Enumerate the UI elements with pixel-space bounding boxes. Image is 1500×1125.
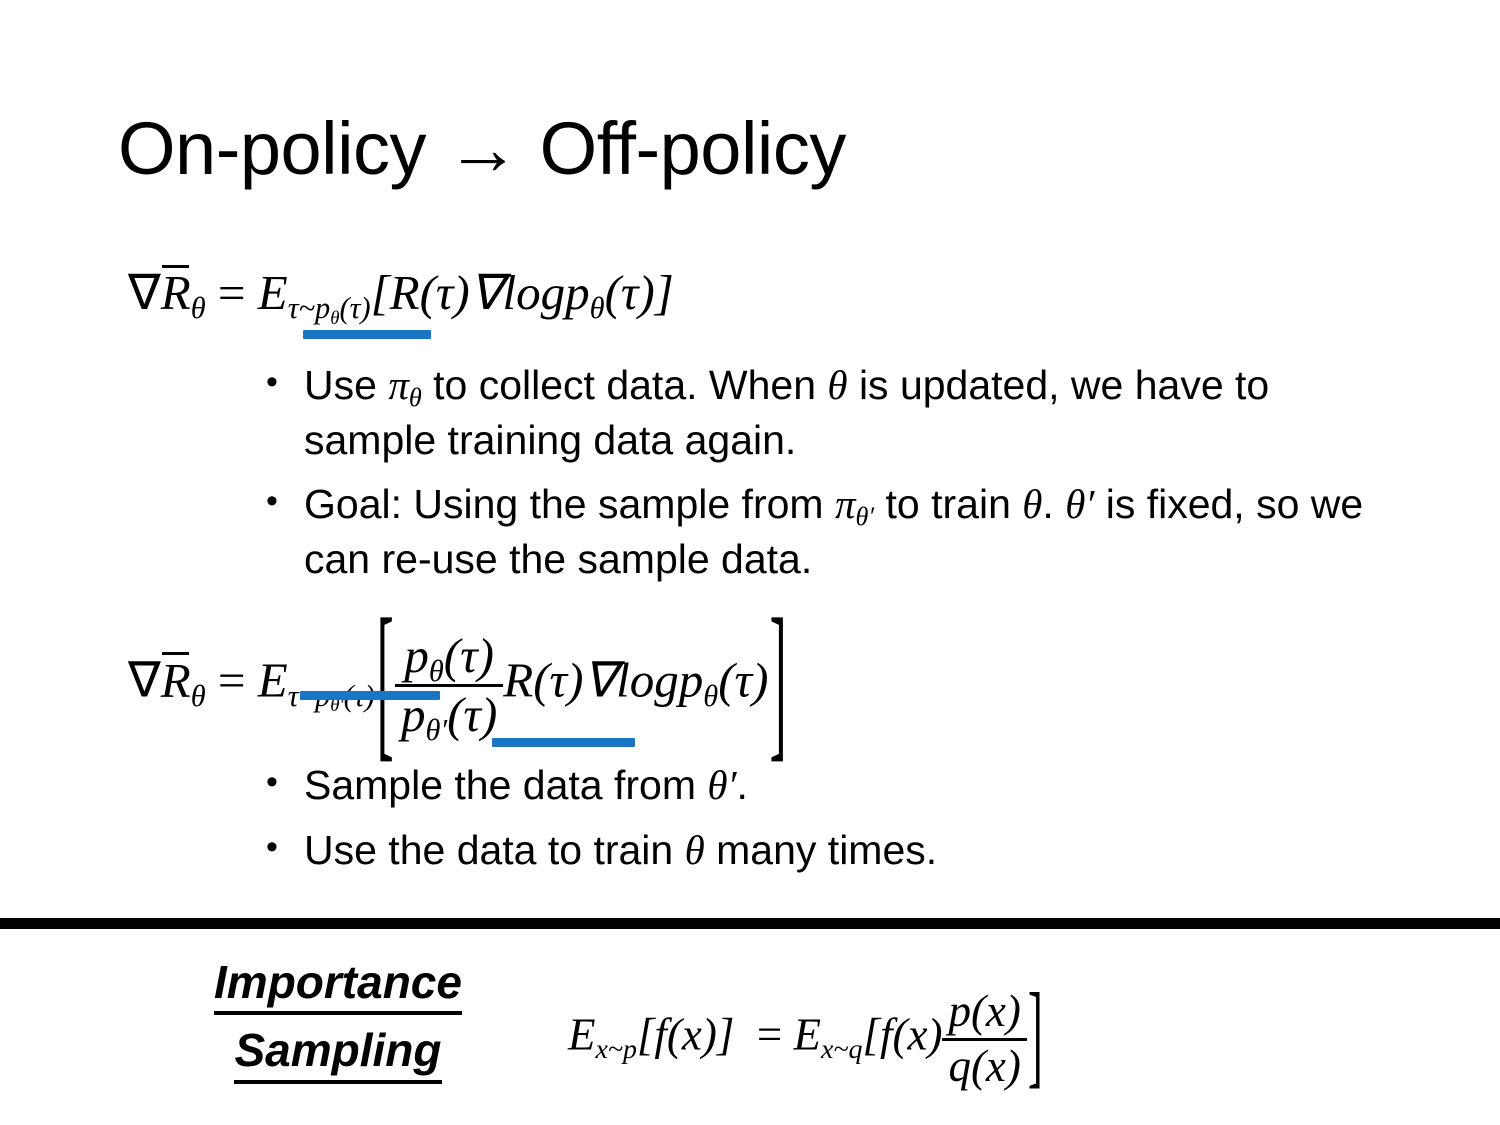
expectation-symbol-q: E	[794, 1010, 822, 1060]
equation-body-subscript: θ	[590, 293, 605, 323]
highlight-underline-denominator	[492, 738, 635, 747]
bullet-marker: •	[258, 758, 304, 807]
bullet-list-off-policy: • Sample the data from θ′. • Use the dat…	[258, 758, 1378, 877]
density-ratio-fraction: p(x) q(x)	[942, 988, 1026, 1090]
rhs-open: [f(x)	[862, 1010, 942, 1060]
equals-sign: =	[757, 1010, 782, 1060]
expectation-subscript-q: x~q	[821, 1036, 862, 1064]
fraction-numerator: pθ(τ)	[395, 630, 503, 682]
list-item: • Goal: Using the sample from πθ′ to tra…	[258, 477, 1378, 586]
bullet-marker: •	[258, 477, 304, 526]
bullet-marker: •	[258, 823, 304, 872]
section-divider	[0, 918, 1500, 929]
expectation-subscript: τ~pθ(τ)	[288, 293, 371, 323]
bullet-text: Use the data to train θ many times.	[304, 823, 1378, 878]
label-line-2: Sampling	[193, 1023, 483, 1083]
expectation-symbol: E	[258, 653, 288, 708]
equation-body-subscript: θ	[703, 681, 718, 711]
r-bar-symbol: R	[161, 656, 191, 705]
expectation-symbol-p: E	[568, 1010, 596, 1060]
equals-sign: =	[218, 653, 246, 708]
theta-symbol: θ	[827, 362, 847, 408]
theta-prime-symbol: θ′	[1065, 481, 1094, 527]
theta-prime-symbol: θ′	[707, 762, 736, 808]
theta-symbol: θ	[1022, 481, 1042, 527]
bullet-list-on-policy: • Use πθ to collect data. When θ is upda…	[258, 358, 1378, 586]
page-title: On-policy → Off-policy	[118, 112, 846, 186]
list-item: • Use πθ to collect data. When θ is upda…	[258, 358, 1378, 467]
equation-importance-sampled-gradient: ∇Rθ = Eτ~pθ′(τ)[ pθ(τ) pθ′(τ) R(τ)∇logpθ…	[128, 630, 789, 741]
importance-sampling-label: Importance Sampling	[193, 955, 483, 1084]
equation-body: R(τ)∇logp	[503, 653, 703, 708]
pi-theta-symbol: πθ	[388, 362, 421, 408]
equation-body: [R(τ)∇logp	[371, 265, 590, 320]
pi-theta-prime-symbol: πθ′	[835, 481, 874, 527]
list-item: • Sample the data from θ′.	[258, 758, 1378, 813]
label-line-1: Importance	[193, 955, 483, 1015]
bracket-close: ]	[1028, 977, 1043, 1094]
theta-subscript: θ	[191, 293, 206, 323]
bullet-text: Sample the data from θ′.	[304, 758, 1378, 813]
expectation-symbol: E	[258, 265, 288, 320]
bullet-text: Use πθ to collect data. When θ is update…	[304, 358, 1378, 467]
bracket-open: [	[376, 592, 393, 766]
lhs-body: [f(x)]	[637, 1010, 734, 1060]
list-item: • Use the data to train θ many times.	[258, 823, 1378, 878]
slide-canvas: On-policy → Off-policy ∇Rθ = Eτ~pθ(τ)[R(…	[0, 0, 1500, 1125]
fraction-numerator: p(x)	[942, 988, 1026, 1036]
equals-sign: =	[218, 265, 246, 320]
highlight-underline-sampling-dist	[300, 691, 440, 700]
expectation-subscript-p: x~p	[596, 1036, 637, 1064]
nabla-symbol: ∇	[128, 653, 161, 708]
nabla-symbol: ∇	[128, 265, 161, 320]
theta-symbol: θ	[685, 827, 705, 873]
highlight-underline-sampling-dist	[303, 330, 431, 339]
bracket-close: ]	[770, 592, 787, 766]
equation-policy-gradient: ∇Rθ = Eτ~pθ(τ)[R(τ)∇logpθ(τ)]	[128, 268, 674, 317]
r-bar-symbol: R	[161, 268, 191, 317]
fraction-denominator: q(x)	[942, 1043, 1026, 1091]
equation-body-tail: (τ)]	[605, 265, 674, 320]
importance-weight-fraction: pθ(τ) pθ′(τ)	[395, 630, 503, 741]
theta-subscript: θ	[191, 681, 206, 711]
equation-body-tail: (τ)	[718, 653, 768, 708]
bullet-marker: •	[258, 358, 304, 407]
bullet-text: Goal: Using the sample from πθ′ to train…	[304, 477, 1378, 586]
equation-importance-sampling-identity: Ex~p[f(x)] = Ex~q[f(x) p(x) q(x) ]	[568, 988, 1044, 1090]
